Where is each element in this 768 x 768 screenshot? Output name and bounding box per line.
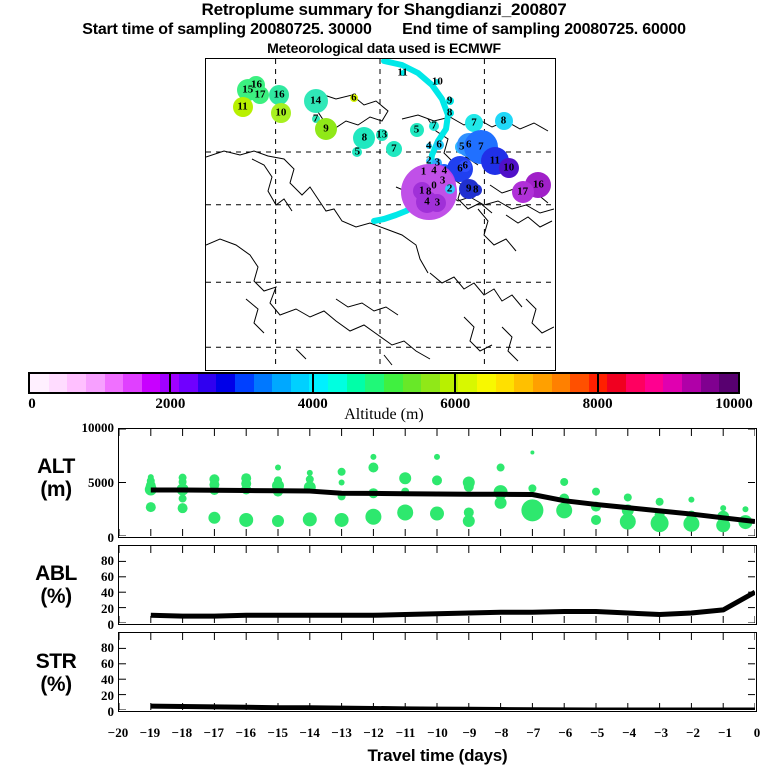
colorbar-swatch xyxy=(570,374,589,392)
colorbar-swatch xyxy=(682,374,701,392)
page-title: Retroplume summary for Shangdianzi_20080… xyxy=(0,0,768,20)
map-blob-label: 2 xyxy=(447,184,453,195)
colorbar-swatch xyxy=(514,374,533,392)
map-blob-label: 16 xyxy=(274,89,285,100)
sampling-time-line: Start time of sampling 20080725. 30000 E… xyxy=(0,20,768,40)
x-tick-label: −8 xyxy=(494,725,508,741)
colorbar-swatch xyxy=(701,374,720,392)
colorbar-swatch xyxy=(626,374,645,392)
map-blob-label: 7 xyxy=(471,117,477,128)
map-blob-label: 5 xyxy=(459,141,465,152)
colorbar-swatch xyxy=(552,374,571,392)
x-tick-label: −2 xyxy=(686,725,700,741)
map-blob-label: 14 xyxy=(310,95,321,106)
altitude-colorbar[interactable]: 0200040006000800010000 xyxy=(28,372,740,394)
x-axis-tick-labels: −20−19−18−17−16−15−14−13−12−11−10−9−8−7−… xyxy=(118,725,757,743)
map-blob-label: 6 xyxy=(463,160,469,171)
map-blob-label: 0 xyxy=(431,181,437,192)
map-blob-label: 4 xyxy=(426,140,432,151)
colorbar-title: Altitude (m) xyxy=(0,406,768,424)
map-blob-label: 11 xyxy=(397,67,407,78)
map-blob-label: 4 xyxy=(431,165,437,176)
alt-y-tick-labels: 0500010000 xyxy=(62,428,114,538)
y-tick-label: 0 xyxy=(108,530,115,546)
colorbar-swatch xyxy=(216,374,235,392)
x-tick-label: −17 xyxy=(204,725,224,741)
colorbar-divider xyxy=(169,372,171,394)
map-blob-label: 6 xyxy=(351,92,357,103)
y-tick-label: 40 xyxy=(101,672,114,688)
map-blob-label: 6 xyxy=(466,140,472,151)
figure-titles: Retroplume summary for Shangdianzi_20080… xyxy=(0,0,768,56)
colorbar-swatch xyxy=(86,374,105,392)
x-tick-label: −5 xyxy=(590,725,604,741)
retroplume-summary-figure: Retroplume summary for Shangdianzi_20080… xyxy=(0,0,768,768)
colorbar-swatch xyxy=(384,374,403,392)
map-blob-label: 16 xyxy=(533,179,544,190)
colorbar-swatch xyxy=(663,374,682,392)
x-tick-label: −6 xyxy=(558,725,572,741)
colorbar-swatch xyxy=(105,374,124,392)
abl-y-tick-labels: 020406080 xyxy=(62,545,114,625)
alt-plot xyxy=(119,429,755,536)
y-tick-label: 80 xyxy=(101,640,114,656)
x-axis-title: Travel time (days) xyxy=(118,746,757,766)
map-blob-label: 3 xyxy=(435,198,441,209)
y-tick-label: 5000 xyxy=(88,475,114,491)
map-blob-label: 7 xyxy=(478,142,484,153)
tick-marks xyxy=(119,633,755,710)
x-tick-label: −9 xyxy=(462,725,476,741)
retroplume-map[interactable]: 1516171116101467981375571110987846567111… xyxy=(205,58,556,371)
map-blob-label: 3 xyxy=(440,176,446,187)
colorbar-swatch xyxy=(403,374,422,392)
x-tick-label: −3 xyxy=(654,725,668,741)
colorbar-swatch xyxy=(607,374,626,392)
map-blob-label: 8 xyxy=(501,116,507,127)
map-blob-label: 17 xyxy=(517,187,528,198)
y-tick-label: 80 xyxy=(101,553,114,569)
colorbar-swatch xyxy=(719,374,738,392)
colorbar-swatch xyxy=(142,374,161,392)
map-blob-label: 8 xyxy=(473,184,479,195)
colorbar-swatch xyxy=(458,374,477,392)
str-y-tick-labels: 020406080 xyxy=(62,632,114,712)
map-blob-label: 13 xyxy=(376,129,387,140)
y-tick-label: 20 xyxy=(101,688,114,704)
colorbar-swatch xyxy=(67,374,86,392)
x-tick-label: −11 xyxy=(396,725,416,741)
map-blob-label: 7 xyxy=(431,120,437,131)
colorbar-gradient xyxy=(28,372,740,394)
map-blob-label: 8 xyxy=(447,108,453,119)
x-tick-label: −15 xyxy=(268,725,288,741)
colorbar-swatch xyxy=(179,374,198,392)
colorbar-swatch xyxy=(365,374,384,392)
y-tick-label: 0 xyxy=(108,617,115,633)
map-blob-label: 11 xyxy=(490,156,500,167)
x-tick-label: −12 xyxy=(363,725,383,741)
colorbar-swatch xyxy=(533,374,552,392)
map-blob-label: 6 xyxy=(436,140,442,151)
map-blob-label: 5 xyxy=(414,125,420,136)
map-blob-label: 8 xyxy=(362,133,368,144)
colorbar-divider xyxy=(454,372,456,394)
trend-line xyxy=(151,592,755,616)
colorbar-swatch xyxy=(123,374,142,392)
abl-plot xyxy=(119,546,755,623)
colorbar-swatch xyxy=(198,374,217,392)
y-tick-label: 20 xyxy=(101,601,114,617)
colorbar-divider xyxy=(597,372,599,394)
y-tick-label: 60 xyxy=(101,569,114,585)
x-tick-label: −18 xyxy=(172,725,192,741)
x-tick-label: −4 xyxy=(622,725,636,741)
map-blob-label: 17 xyxy=(254,89,265,100)
colorbar-swatch xyxy=(477,374,496,392)
end-time-label: End time of sampling 20080725. 60000 xyxy=(402,21,686,38)
trend-line xyxy=(151,706,755,710)
x-tick-label: −7 xyxy=(526,725,540,741)
colorbar-swatch xyxy=(496,374,515,392)
colorbar-swatch xyxy=(272,374,291,392)
map-blob-label: 7 xyxy=(313,114,319,125)
map-blob-label: 1 xyxy=(421,167,427,178)
x-tick-label: −19 xyxy=(140,725,160,741)
x-tick-label: −13 xyxy=(331,725,351,741)
y-tick-label: 60 xyxy=(101,656,114,672)
y-tick-label: 0 xyxy=(108,704,115,720)
map-gridlines xyxy=(206,59,554,369)
map-blob-label: 10 xyxy=(503,162,514,173)
y-tick-label: 10000 xyxy=(82,420,115,436)
map-blob-label: 10 xyxy=(432,77,443,88)
x-tick-label: −14 xyxy=(299,725,319,741)
alt-panel[interactable] xyxy=(118,428,757,538)
colorbar-swatch xyxy=(328,374,347,392)
map-blob-label: 11 xyxy=(237,102,247,113)
colorbar-swatch xyxy=(30,374,49,392)
colorbar-swatch xyxy=(421,374,440,392)
map-blob-label: 9 xyxy=(323,123,329,134)
map-blob-label: 4 xyxy=(424,196,430,207)
abl-panel[interactable] xyxy=(118,545,757,625)
x-tick-label: −10 xyxy=(427,725,447,741)
met-data-label: Meteorological data used is ECMWF xyxy=(0,40,768,56)
colorbar-swatch xyxy=(291,374,310,392)
map-blob-label: 9 xyxy=(466,184,472,195)
str-panel[interactable] xyxy=(118,632,757,712)
colorbar-swatch xyxy=(645,374,664,392)
x-tick-label: −20 xyxy=(108,725,128,741)
start-time-label: Start time of sampling 20080725. 30000 xyxy=(82,21,371,38)
x-tick-label: −16 xyxy=(236,725,256,741)
map-blob-label: 7 xyxy=(391,143,397,154)
map-frame: 1516171116101467981375571110987846567111… xyxy=(205,58,556,371)
map-blob-label: 10 xyxy=(275,108,286,119)
colorbar-divider xyxy=(312,372,314,394)
colorbar-swatch xyxy=(49,374,68,392)
map-blob-label: 9 xyxy=(447,95,453,106)
x-tick-label: −1 xyxy=(718,725,732,741)
colorbar-swatch xyxy=(254,374,273,392)
x-tick-label: 0 xyxy=(754,725,761,741)
colorbar-swatch xyxy=(347,374,366,392)
map-graphics xyxy=(206,59,554,369)
y-tick-label: 40 xyxy=(101,585,114,601)
str-plot xyxy=(119,633,755,710)
map-blob-label: 5 xyxy=(355,147,361,158)
colorbar-swatch xyxy=(235,374,254,392)
